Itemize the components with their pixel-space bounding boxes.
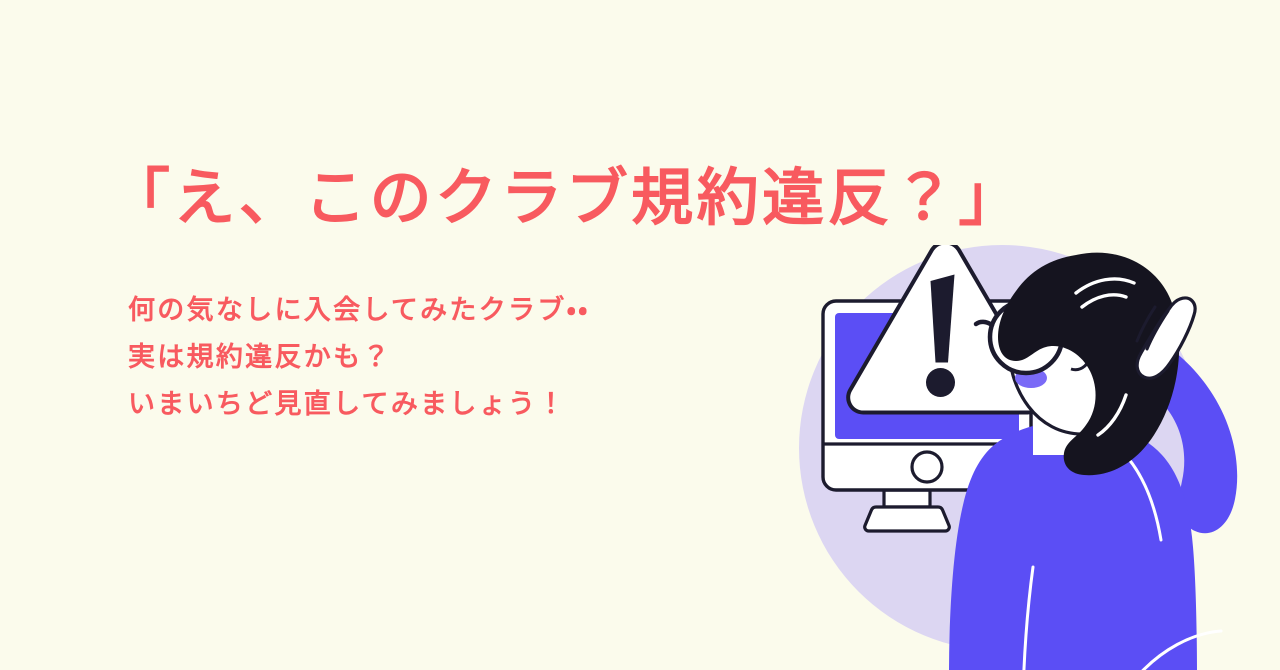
banner-root: 「え、このクラブ規約違反？」 何の気なしに入会してみたクラブ・・ 実は規約違反か… xyxy=(0,0,1280,670)
monitor-foot xyxy=(865,507,950,531)
page-title: 「え、このクラブ規約違反？」 xyxy=(108,154,1178,244)
monitor-stand-base xyxy=(884,490,930,507)
warning-exclamation-dot xyxy=(926,368,955,397)
hero-illustration xyxy=(780,245,1250,670)
subcopy-line-1: 何の気なしに入会してみたクラブ・・ xyxy=(128,287,590,334)
monitor-power-button[interactable] xyxy=(912,452,942,482)
subcopy-block: 何の気なしに入会してみたクラブ・・ 実は規約違反かも？ いまいちど見直してみまし… xyxy=(128,287,590,428)
subcopy-line-3: いまいちど見直してみましょう！ xyxy=(128,381,590,428)
subcopy-line-2: 実は規約違反かも？ xyxy=(128,334,590,381)
